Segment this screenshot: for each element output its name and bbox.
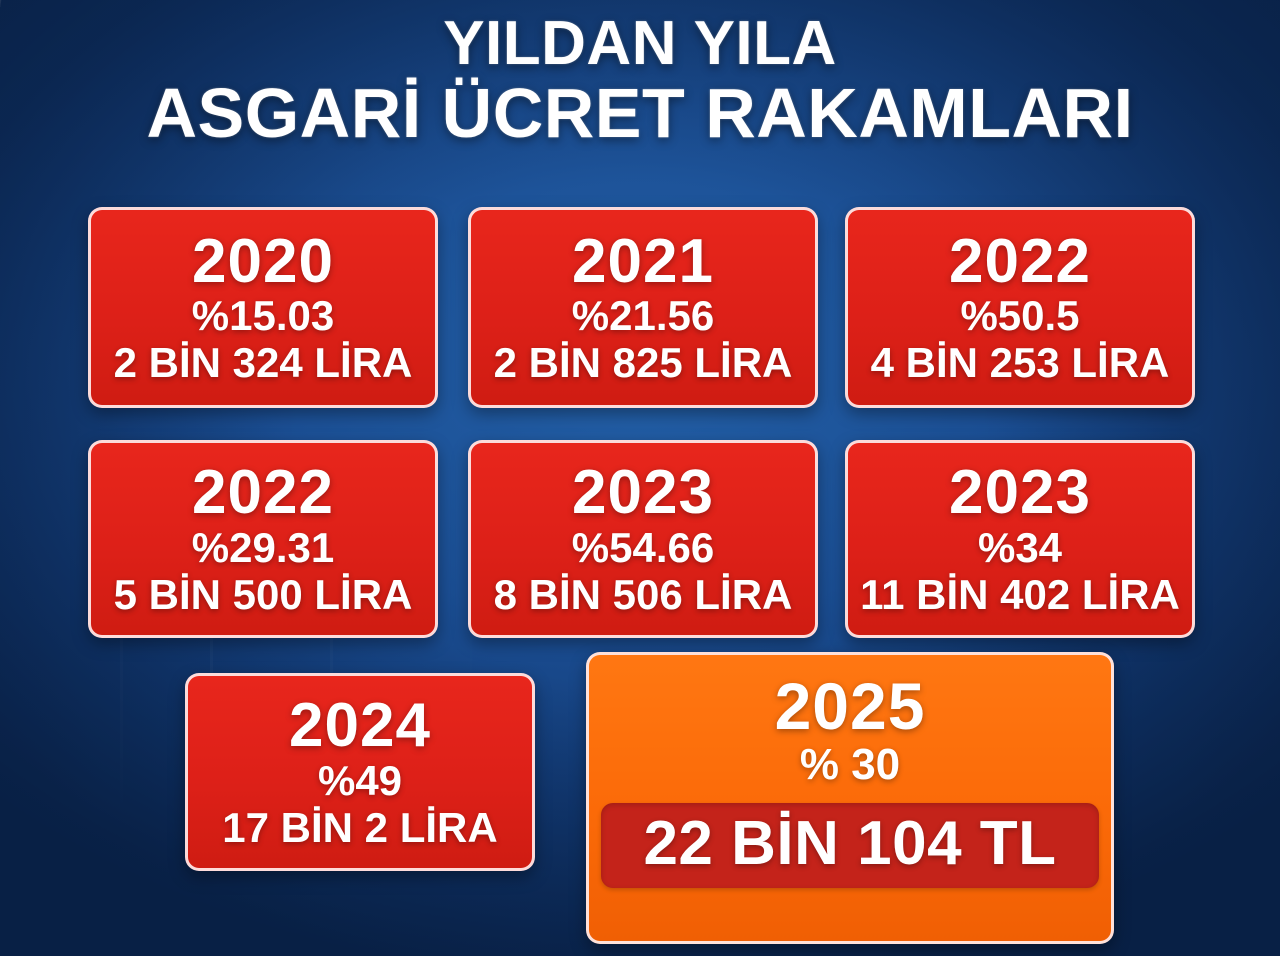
infographic-canvas: YILDAN YILA ASGARİ ÜCRET RAKAMLARI 2020 … <box>0 0 1280 956</box>
card-percent: %50.5 <box>960 294 1079 338</box>
card-percent: %29.31 <box>192 526 334 570</box>
title-line-2: ASGARİ ÜCRET RAKAMLARI <box>0 79 1280 148</box>
card-amount: 8 BİN 506 LİRA <box>494 573 793 617</box>
card-percent: % 30 <box>800 742 900 788</box>
year-card-2023-a: 2023 %54.66 8 BİN 506 LİRA <box>468 440 818 638</box>
year-card-2020: 2020 %15.03 2 BİN 324 LİRA <box>88 207 438 408</box>
card-amount-box: 22 BİN 104 TL <box>601 803 1099 888</box>
card-year: 2023 <box>572 461 714 524</box>
year-card-2023-b: 2023 %34 11 BİN 402 LİRA <box>845 440 1195 638</box>
card-percent: %54.66 <box>572 526 714 570</box>
card-amount: 4 BİN 253 LİRA <box>871 341 1170 385</box>
card-year: 2025 <box>775 673 926 740</box>
card-percent: %49 <box>318 759 402 803</box>
year-card-2021: 2021 %21.56 2 BİN 825 LİRA <box>468 207 818 408</box>
card-amount: 2 BİN 825 LİRA <box>494 341 793 385</box>
card-percent: %15.03 <box>192 294 334 338</box>
year-card-2022-b: 2022 %29.31 5 BİN 500 LİRA <box>88 440 438 638</box>
card-year: 2023 <box>949 461 1091 524</box>
page-title: YILDAN YILA ASGARİ ÜCRET RAKAMLARI <box>0 14 1280 147</box>
card-amount: 17 BİN 2 LİRA <box>222 806 497 850</box>
card-amount: 22 BİN 104 TL <box>643 811 1056 876</box>
card-amount: 2 BİN 324 LİRA <box>114 341 413 385</box>
title-line-1: YILDAN YILA <box>0 14 1280 75</box>
card-amount: 11 BİN 402 LİRA <box>860 573 1180 617</box>
year-card-2024: 2024 %49 17 BİN 2 LİRA <box>185 673 535 871</box>
card-year: 2022 <box>949 230 1091 293</box>
card-amount: 5 BİN 500 LİRA <box>114 573 413 617</box>
card-year: 2024 <box>289 694 431 757</box>
card-year: 2022 <box>192 461 334 524</box>
year-card-2025-highlight: 2025 % 30 22 BİN 104 TL <box>586 652 1114 944</box>
card-year: 2020 <box>192 230 334 293</box>
card-percent: %34 <box>978 526 1062 570</box>
card-year: 2021 <box>572 230 714 293</box>
card-percent: %21.56 <box>572 294 714 338</box>
year-card-2022-a: 2022 %50.5 4 BİN 253 LİRA <box>845 207 1195 408</box>
